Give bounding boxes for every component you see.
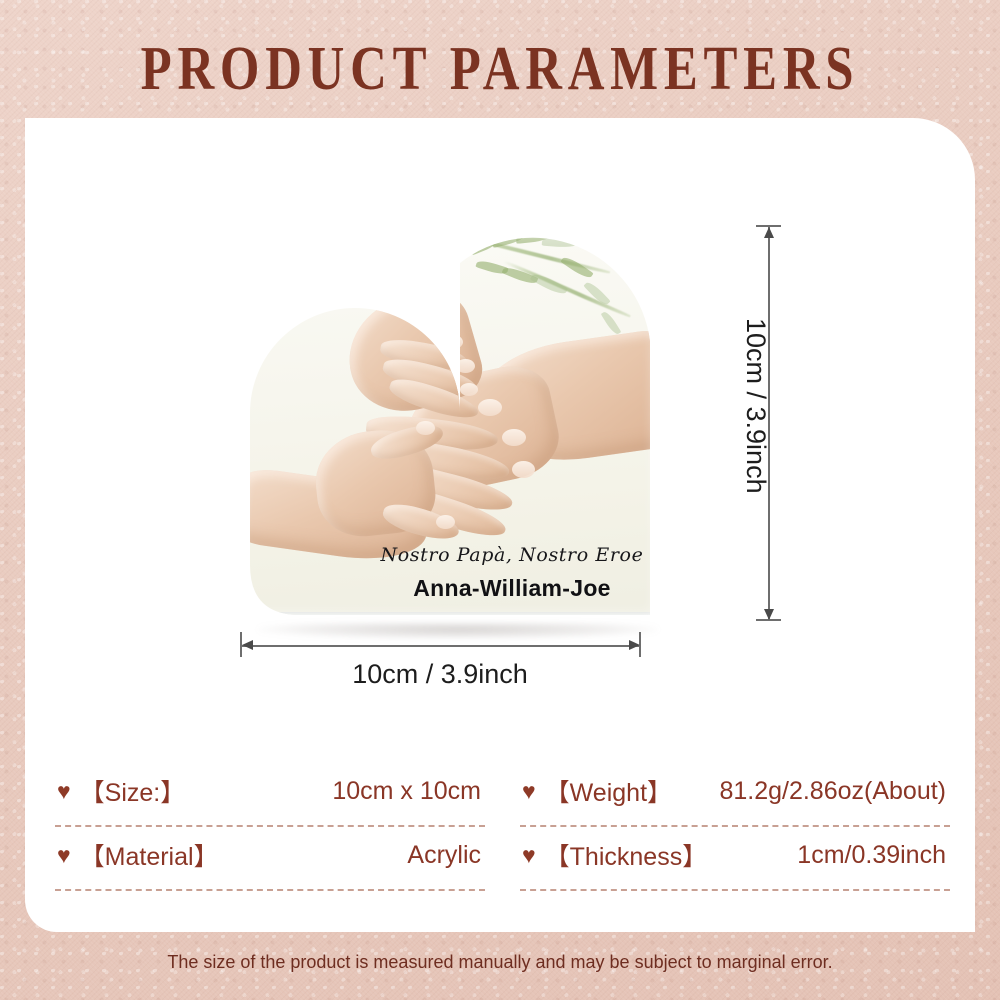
spec-label-size: 【Size:】 (80, 773, 186, 809)
spec-divider (55, 889, 485, 891)
acrylic-plaque: Nostro Papà, Nostro Eroe Anna-William-Jo… (230, 223, 685, 633)
spec-key-weight: ♥ 【Weight】 (522, 773, 672, 809)
spec-value-size: 10cm x 10cm (332, 777, 481, 806)
spec-value-weight: 81.2g/2.86oz(About) (719, 777, 946, 806)
spec-row-thickness: ♥ 【Thickness】 1cm/0.39inch (520, 827, 950, 891)
heart-icon: ♥ (57, 780, 71, 803)
spec-row-size: ♥ 【Size:】 10cm x 10cm (55, 763, 485, 827)
plaque-shadow (258, 623, 658, 639)
spec-label-material: 【Material】 (80, 837, 219, 873)
width-arrow-right (629, 640, 640, 650)
spec-row-material: ♥ 【Material】 Acrylic (55, 827, 485, 891)
heart-icon: ♥ (57, 844, 71, 867)
spec-key-material: ♥ 【Material】 (57, 837, 219, 873)
spec-label-weight: 【Weight】 (545, 773, 672, 809)
plaque-script-text: Nostro Papà, Nostro Eroe (376, 544, 648, 566)
height-dimension-label: 10cm / 3.9inch (740, 318, 771, 494)
product-image-area: Nostro Papà, Nostro Eroe Anna-William-Jo… (25, 118, 975, 718)
plaque-names-text: Anna-William-Joe (376, 575, 648, 602)
spec-row-weight: ♥ 【Weight】 81.2g/2.86oz(About) (520, 763, 950, 827)
width-arrow-left (242, 640, 253, 650)
infographic-page: PRODUCT PARAMETERS (0, 0, 1000, 1000)
height-arrow-top (764, 227, 774, 238)
spec-value-material: Acrylic (407, 841, 481, 870)
height-arrow-bottom (764, 609, 774, 620)
spec-label-thickness: 【Thickness】 (545, 837, 708, 873)
spec-key-size: ♥ 【Size:】 (57, 773, 185, 809)
page-title: PRODUCT PARAMETERS (90, 34, 910, 105)
width-dimension-label: 10cm / 3.9inch (240, 659, 640, 690)
spec-divider (520, 889, 950, 891)
heart-icon: ♥ (522, 844, 536, 867)
spec-column-left: ♥ 【Size:】 10cm x 10cm ♥ 【Material】 Acryl… (55, 763, 485, 891)
spec-value-thickness: 1cm/0.39inch (797, 841, 946, 870)
spec-column-right: ♥ 【Weight】 81.2g/2.86oz(About) ♥ 【Thickn… (520, 763, 950, 891)
width-dimension-line (240, 645, 640, 647)
content-card: Nostro Papà, Nostro Eroe Anna-William-Jo… (25, 118, 975, 932)
plaque-body: Nostro Papà, Nostro Eroe Anna-William-Jo… (230, 223, 665, 625)
heart-icon: ♥ (522, 780, 536, 803)
disclaimer-text: The size of the product is measured manu… (0, 952, 1000, 973)
plaque-thickness-edge (250, 612, 650, 625)
spec-key-thickness: ♥ 【Thickness】 (522, 837, 707, 873)
